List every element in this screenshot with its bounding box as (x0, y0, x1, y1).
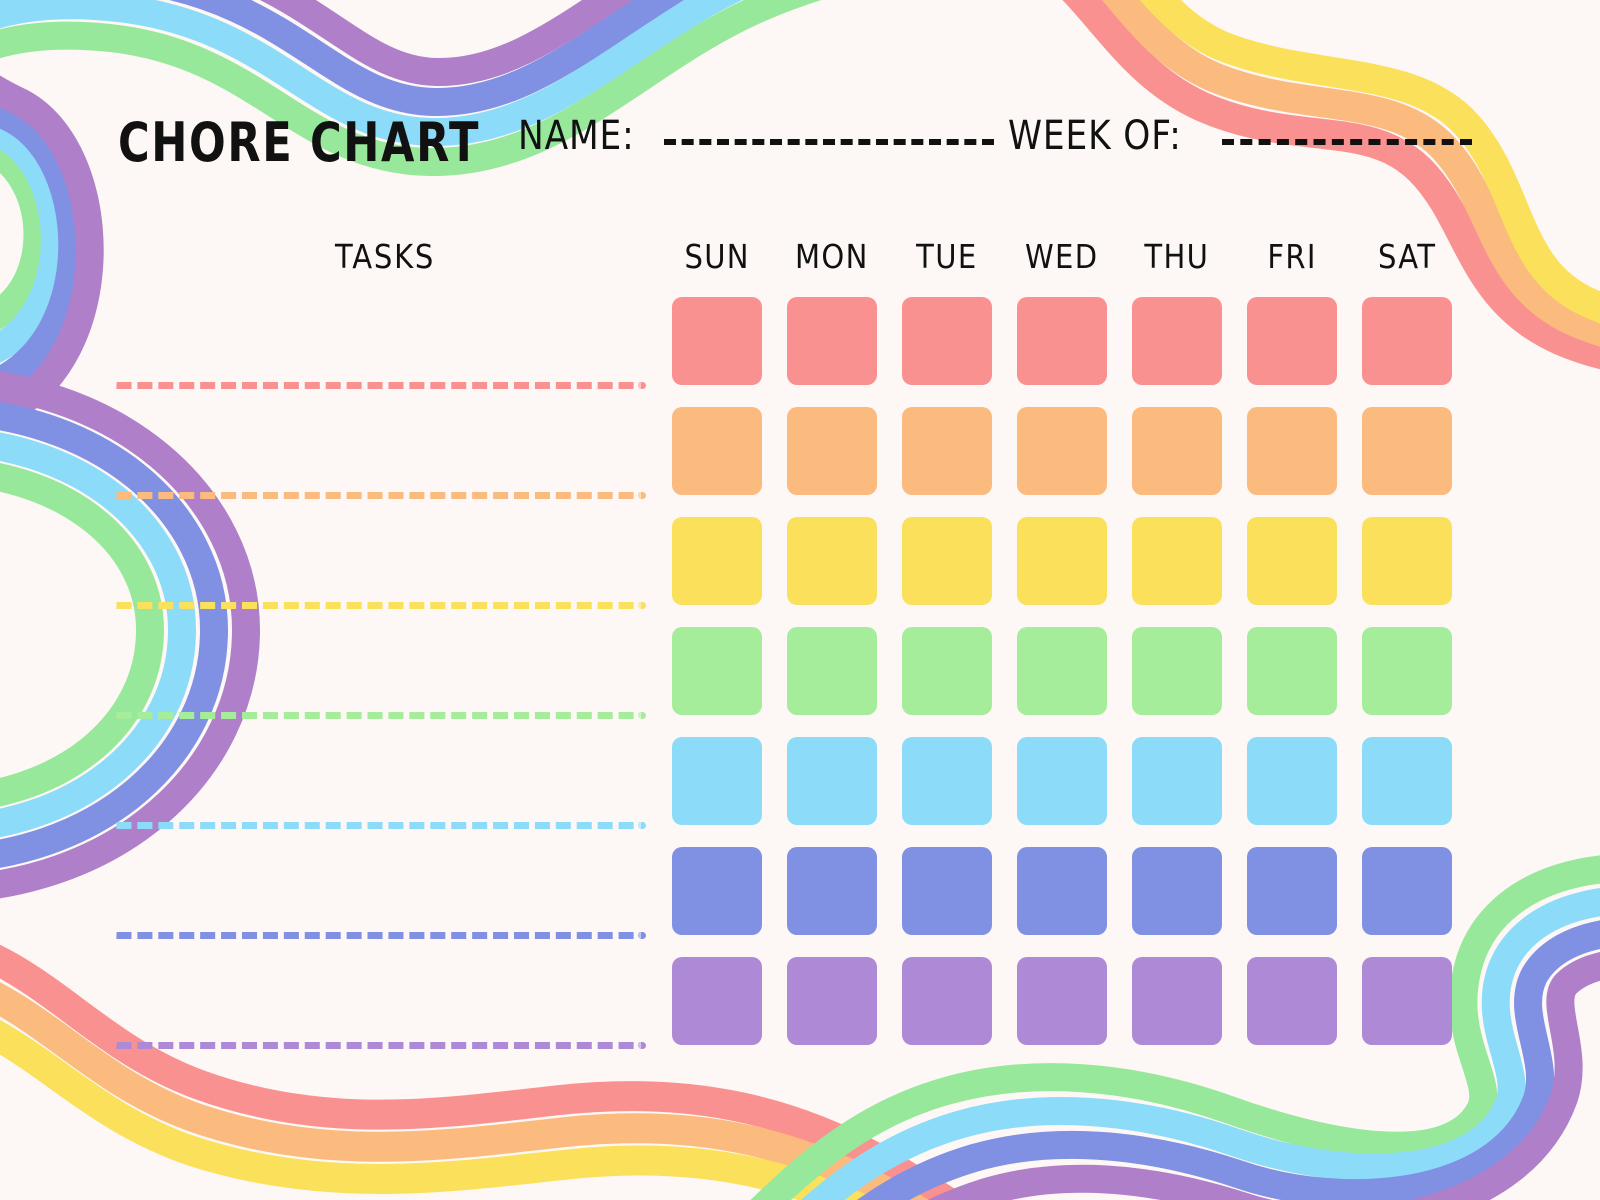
day-header-label: THU (1145, 240, 1210, 273)
task-write-line-4[interactable] (114, 712, 646, 719)
chore-cell-row3-wed[interactable] (1017, 517, 1107, 605)
chore-cell-row2-wed[interactable] (1017, 407, 1107, 495)
chore-cell-row1-sun[interactable] (672, 297, 762, 385)
chore-cell-row3-fri[interactable] (1247, 517, 1337, 605)
chore-cell-row6-wed[interactable] (1017, 847, 1107, 935)
chore-cell-row6-sun[interactable] (672, 847, 762, 935)
week-of-field[interactable]: WEEK OF: (1008, 116, 1472, 156)
week-of-write-line[interactable] (1222, 139, 1472, 145)
chart-header: CHORE CHART NAME: WEEK OF: (118, 116, 1478, 170)
day-header-label: FRI (1267, 240, 1316, 273)
chore-chart-page: CHORE CHART NAME: WEEK OF: TASKS SUNMONT… (0, 0, 1600, 1200)
chore-cell-row5-thu[interactable] (1132, 737, 1222, 825)
chore-cell-row1-sat[interactable] (1362, 297, 1452, 385)
day-header-fri: FRI (1247, 240, 1337, 273)
chore-cell-row3-thu[interactable] (1132, 517, 1222, 605)
tasks-column-heading: TASKS (335, 240, 435, 273)
chore-cell-row3-sun[interactable] (672, 517, 762, 605)
rainbow-top-left-hook (0, 380, 246, 890)
chore-cell-row6-fri[interactable] (1247, 847, 1337, 935)
chore-cell-row2-sat[interactable] (1362, 407, 1452, 495)
chore-cell-row4-tue[interactable] (902, 627, 992, 715)
chore-cell-row2-mon[interactable] (787, 407, 877, 495)
chore-cell-row7-wed[interactable] (1017, 957, 1107, 1045)
chore-cell-row5-wed[interactable] (1017, 737, 1107, 825)
week-of-label: WEEK OF: (1008, 116, 1182, 156)
chore-cell-row5-fri[interactable] (1247, 737, 1337, 825)
chore-cell-row7-mon[interactable] (787, 957, 877, 1045)
chore-cell-row2-sun[interactable] (672, 407, 762, 495)
day-header-tue: TUE (902, 240, 992, 273)
chore-cell-row1-fri[interactable] (1247, 297, 1337, 385)
name-label: NAME: (518, 116, 635, 156)
chore-cell-row5-mon[interactable] (787, 737, 877, 825)
task-write-line-3[interactable] (114, 602, 646, 609)
chore-cell-row7-tue[interactable] (902, 957, 992, 1045)
chore-cell-row6-sat[interactable] (1362, 847, 1452, 935)
chore-cell-row7-thu[interactable] (1132, 957, 1222, 1045)
chore-cell-row1-wed[interactable] (1017, 297, 1107, 385)
chore-cell-row7-sun[interactable] (672, 957, 762, 1045)
day-header-sun: SUN (672, 240, 762, 273)
chore-cell-row5-sat[interactable] (1362, 737, 1452, 825)
chore-cell-row4-wed[interactable] (1017, 627, 1107, 715)
day-header-thu: THU (1132, 240, 1222, 273)
chore-cell-row5-sun[interactable] (672, 737, 762, 825)
chore-cell-row3-sat[interactable] (1362, 517, 1452, 605)
day-header-label: SAT (1378, 240, 1436, 273)
day-header-sat: SAT (1362, 240, 1452, 273)
name-write-line[interactable] (664, 139, 994, 145)
chore-cell-row1-tue[interactable] (902, 297, 992, 385)
day-header-label: TUE (916, 240, 977, 273)
chore-cell-row1-mon[interactable] (787, 297, 877, 385)
chore-cell-row4-sat[interactable] (1362, 627, 1452, 715)
chore-cell-row5-tue[interactable] (902, 737, 992, 825)
chore-cell-row7-fri[interactable] (1247, 957, 1337, 1045)
chore-cell-row6-mon[interactable] (787, 847, 877, 935)
rainbow-top-left (0, 0, 1060, 426)
chore-cell-row2-thu[interactable] (1132, 407, 1222, 495)
day-header-wed: WED (1017, 240, 1107, 273)
chore-cell-row4-sun[interactable] (672, 627, 762, 715)
chore-cell-row2-tue[interactable] (902, 407, 992, 495)
page-title: CHORE CHART (118, 116, 480, 170)
chore-cell-row1-thu[interactable] (1132, 297, 1222, 385)
chore-cell-row4-thu[interactable] (1132, 627, 1222, 715)
day-header-mon: MON (787, 240, 877, 273)
chore-cell-row6-thu[interactable] (1132, 847, 1222, 935)
chore-cell-row4-fri[interactable] (1247, 627, 1337, 715)
name-field[interactable]: NAME: (518, 116, 994, 156)
chore-cell-row4-mon[interactable] (787, 627, 877, 715)
chore-cell-row7-sat[interactable] (1362, 957, 1452, 1045)
day-header-label: WED (1025, 240, 1098, 273)
task-write-line-1[interactable] (114, 382, 646, 389)
day-header-label: MON (795, 240, 869, 273)
task-write-line-5[interactable] (114, 822, 646, 829)
chore-cell-row3-mon[interactable] (787, 517, 877, 605)
task-write-line-2[interactable] (114, 492, 646, 499)
chore-cell-row2-fri[interactable] (1247, 407, 1337, 495)
task-write-line-6[interactable] (114, 932, 646, 939)
task-write-line-7[interactable] (114, 1042, 646, 1049)
chore-cell-row3-tue[interactable] (902, 517, 992, 605)
day-header-label: SUN (684, 240, 749, 273)
chore-cell-row6-tue[interactable] (902, 847, 992, 935)
